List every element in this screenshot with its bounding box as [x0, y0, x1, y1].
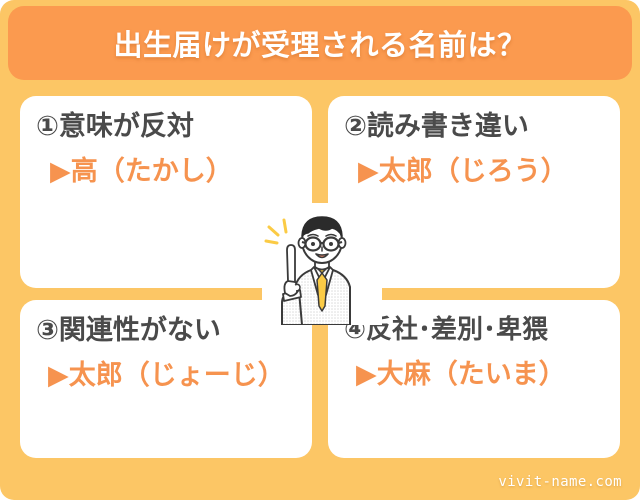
page-title: 出生届けが受理される名前は？ — [113, 22, 526, 64]
header-bar: 出生届けが受理される名前は？ — [8, 6, 632, 80]
card-3-title: ③関連性がない — [36, 314, 221, 348]
card-1-title: ①意味が反対 — [36, 110, 194, 144]
infographic-root: 出生届けが受理される名前は？ ①意味が反対 ▶高（たかし） ②読み書き違い ▶太… — [0, 0, 640, 500]
card-2-title: ②読み書き違い — [344, 110, 529, 144]
card-2-example: ▶太郎（じろう） — [358, 154, 568, 189]
card-4-example: ▶大麻（たいま） — [356, 357, 566, 392]
card-3-example: ▶太郎（じょーじ） — [48, 358, 285, 393]
watermark: vivit-name.com — [498, 474, 622, 490]
illustration-man-pointing-up — [262, 203, 382, 325]
card-1-example: ▶高（たかし） — [50, 154, 233, 189]
